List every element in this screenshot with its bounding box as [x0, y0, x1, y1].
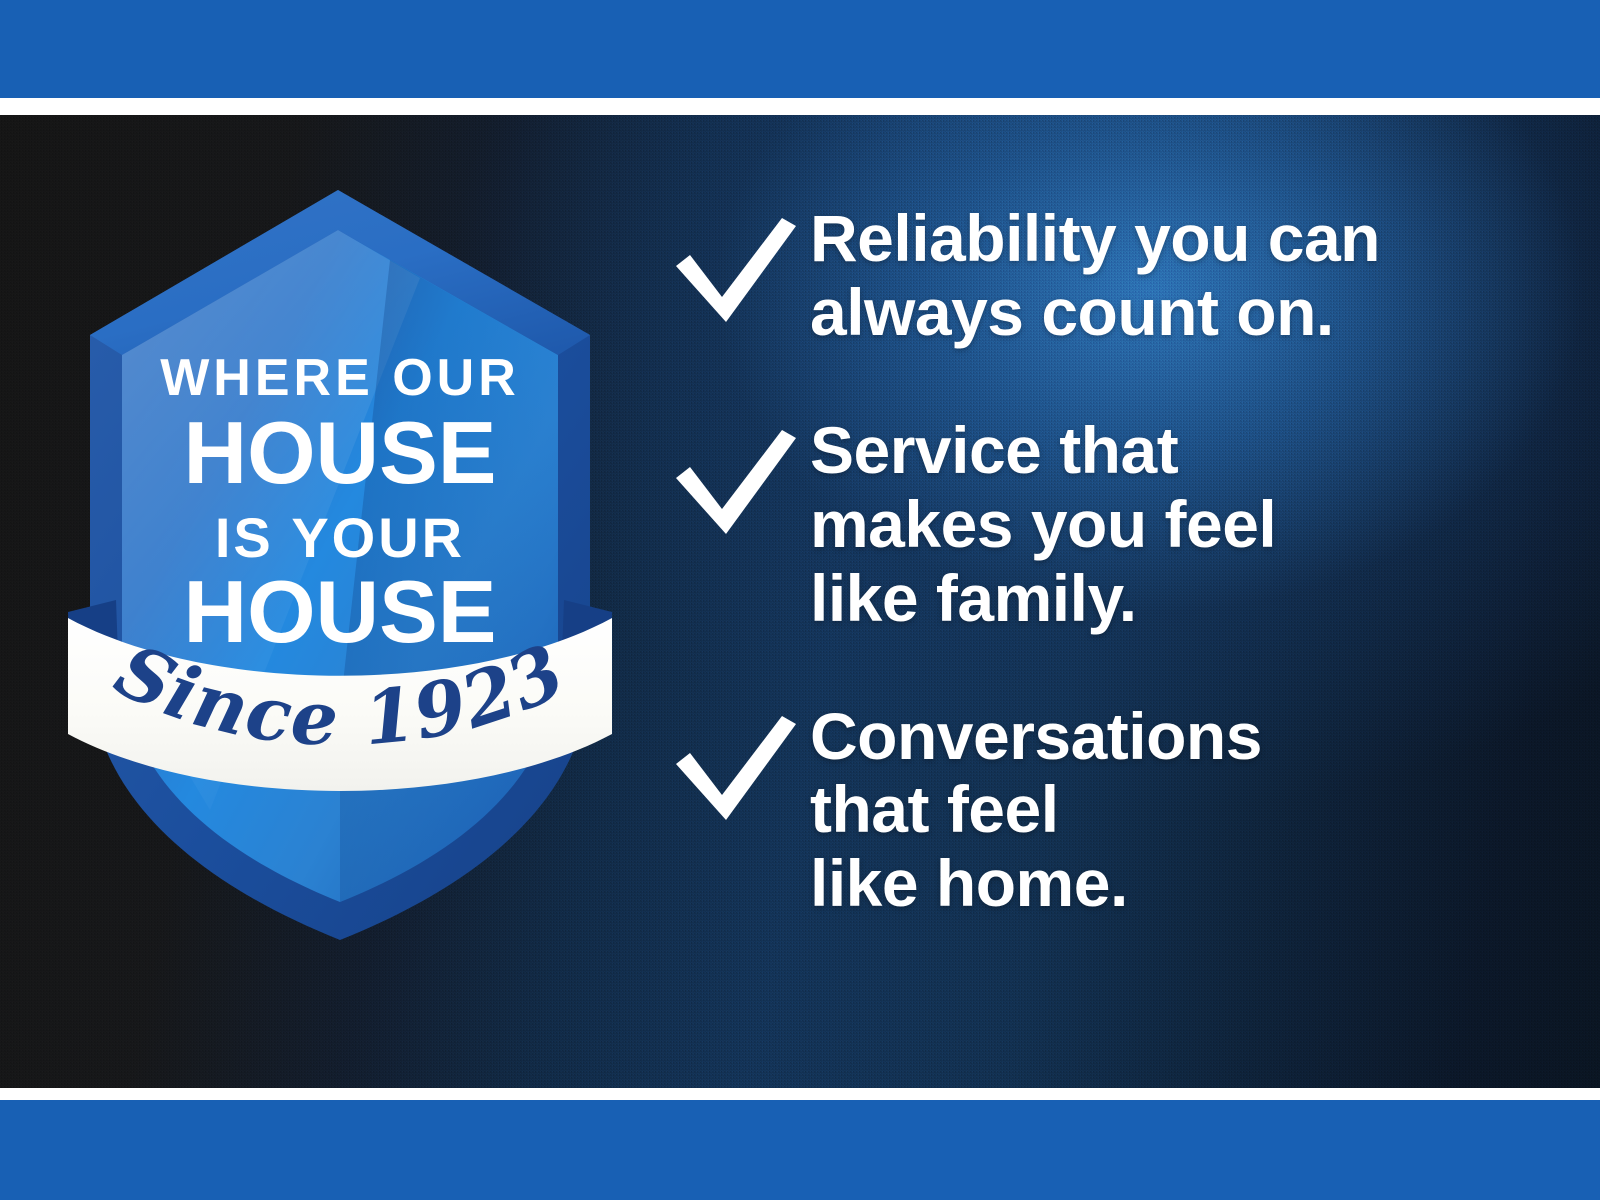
checkmark-icon — [660, 200, 810, 312]
benefit-item-reliability: Reliability you can always count on. — [660, 200, 1560, 350]
benefit-text-reliability: Reliability you can always count on. — [810, 200, 1560, 350]
benefit-text-conversations: Conversations that feel like home. — [810, 698, 1560, 922]
shield-line-4: HOUSE — [184, 562, 497, 661]
promo-graphic: WHERE OUR HOUSE IS YOUR HOUSE Since 1923 — [0, 0, 1600, 1200]
shield-line-1: WHERE OUR — [160, 349, 520, 407]
top-white-divider — [0, 98, 1600, 115]
brand-shield-badge: WHERE OUR HOUSE IS YOUR HOUSE Since 1923 — [60, 150, 620, 940]
benefit-text-service: Service that makes you feel like family. — [810, 412, 1560, 636]
shield-line-2: HOUSE — [184, 403, 497, 502]
checkmark-icon — [660, 698, 810, 810]
checkmark-icon — [660, 412, 810, 524]
benefit-item-service: Service that makes you feel like family. — [660, 412, 1560, 636]
bottom-white-divider — [0, 1088, 1600, 1100]
benefit-item-conversations: Conversations that feel like home. — [660, 698, 1560, 922]
shield-line-3: IS YOUR — [215, 506, 465, 569]
top-brand-band — [0, 0, 1600, 98]
bottom-brand-band — [0, 1100, 1600, 1200]
benefits-list: Reliability you can always count on. Ser… — [660, 200, 1560, 921]
